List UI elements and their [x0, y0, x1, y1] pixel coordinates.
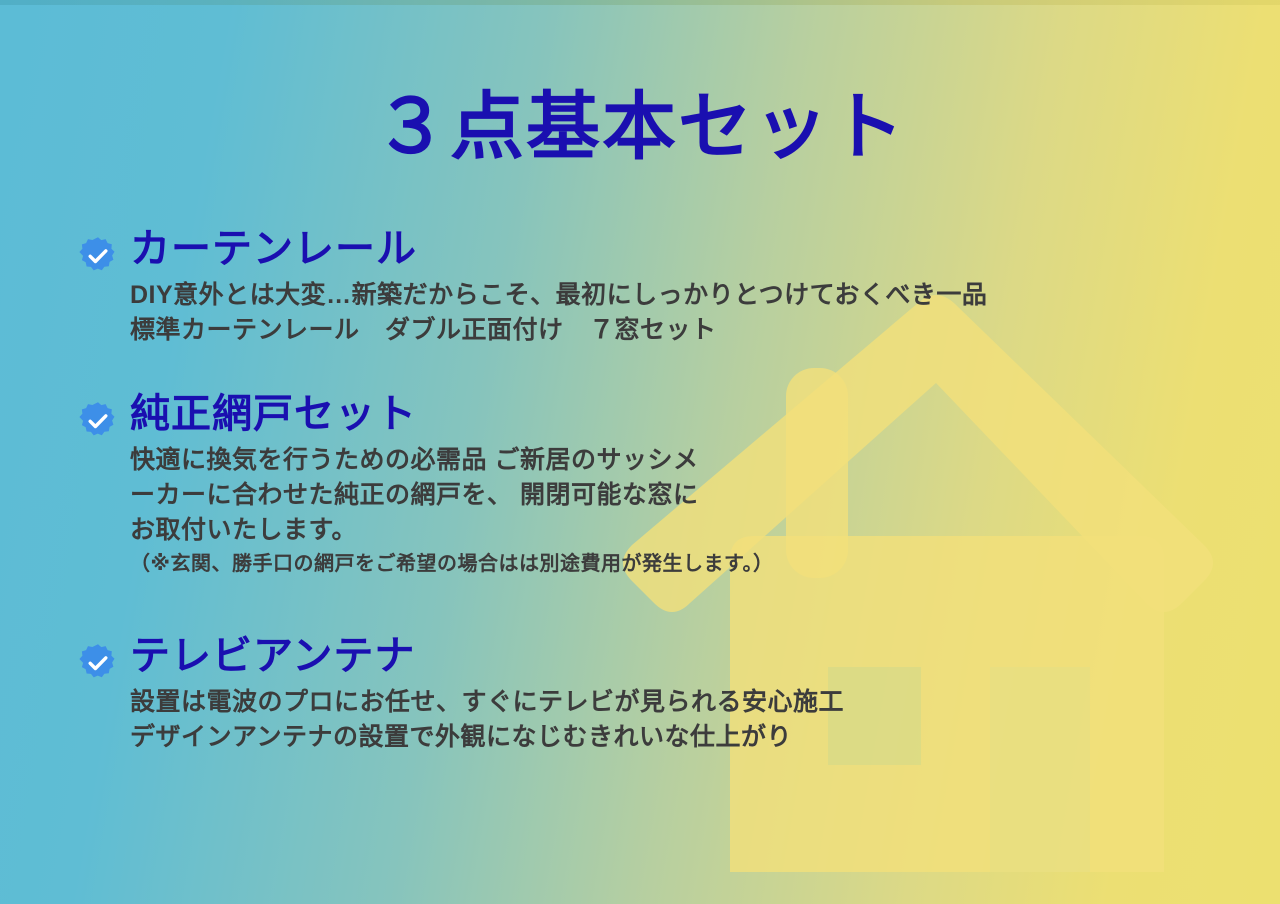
feature-description: DIY意外とは大変…新築だからこそ、最初にしっかりとつけておくべき一品 標準カー…: [130, 278, 1258, 348]
feature-line: 快適に換気を行うための必需品 ご新居のサッシメ: [130, 443, 1258, 478]
feature-heading-row: 純正網戸セット: [78, 393, 1258, 441]
feature-line: 標準カーテンレール ダブル正面付け ７窓セット: [130, 313, 1258, 348]
feature-title: 純正網戸セット: [130, 393, 417, 435]
page-title: ３点基本セット: [0, 88, 1280, 166]
feature-line: 設置は電波のプロにお任せ、すぐにテレビが見られる安心施工: [130, 685, 1258, 720]
check-badge-icon: [78, 236, 118, 276]
feature-title: テレビアンテナ: [130, 635, 415, 677]
feature-item: カーテンレール DIY意外とは大変…新築だからこそ、最初にしっかりとつけておくべ…: [78, 228, 1258, 348]
check-badge-icon: [78, 401, 118, 441]
feature-line: お取付いたします。: [130, 513, 1258, 548]
feature-line: デザインアンテナの設置で外観になじむきれいな仕上がり: [130, 720, 1258, 755]
feature-title: カーテンレール: [130, 228, 417, 270]
check-badge-icon: [78, 643, 118, 683]
poster-content: ３点基本セット カーテンレール DIY意外とは大変…新築だからこそ、最初にしっか…: [0, 0, 1280, 904]
feature-item: テレビアンテナ 設置は電波のプロにお任せ、すぐにテレビが見られる安心施工 デザイ…: [78, 635, 1258, 755]
feature-description: 設置は電波のプロにお任せ、すぐにテレビが見られる安心施工 デザインアンテナの設置…: [130, 685, 1258, 755]
feature-item: 純正網戸セット 快適に換気を行うための必需品 ご新居のサッシメ ーカーに合わせた…: [78, 393, 1258, 579]
feature-note: （※玄関、勝手口の網戸をご希望の場合はは別途費用が発生します。）: [130, 550, 1258, 579]
feature-line: DIY意外とは大変…新築だからこそ、最初にしっかりとつけておくべき一品: [130, 278, 1258, 313]
feature-description: 快適に換気を行うための必需品 ご新居のサッシメ ーカーに合わせた純正の網戸を、 …: [130, 443, 1258, 579]
feature-heading-row: カーテンレール: [78, 228, 1258, 276]
promo-poster: ３点基本セット カーテンレール DIY意外とは大変…新築だからこそ、最初にしっか…: [0, 0, 1280, 904]
feature-line: ーカーに合わせた純正の網戸を、 開閉可能な窓に: [130, 478, 1258, 513]
feature-heading-row: テレビアンテナ: [78, 635, 1258, 683]
